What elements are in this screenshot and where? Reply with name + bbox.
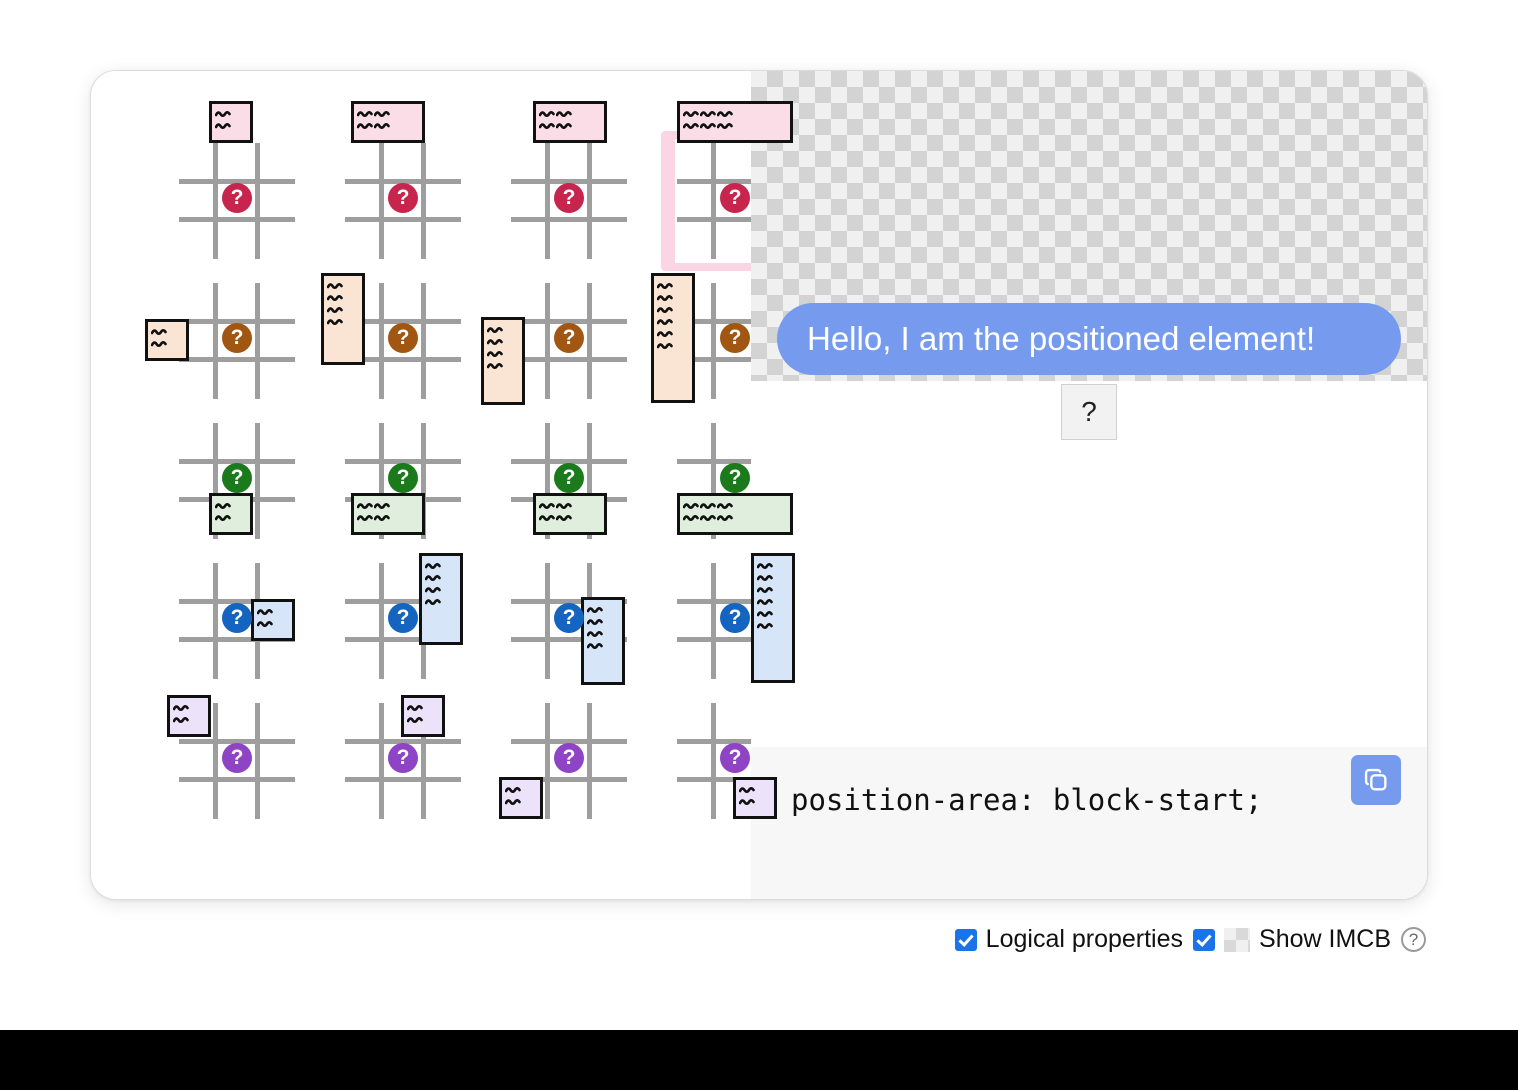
grid-line — [545, 283, 550, 399]
anchor-badge: ? — [388, 603, 418, 633]
squiggle-mark — [151, 339, 168, 349]
help-icon[interactable]: ? — [1401, 927, 1426, 952]
tictac-grid: ? — [343, 279, 463, 403]
squiggle-mark — [407, 715, 424, 725]
position-area-option[interactable]: ? — [495, 691, 643, 831]
anchor-badge: ? — [388, 323, 418, 353]
squiggle-mark — [683, 109, 700, 119]
squiggle-mark — [374, 513, 391, 523]
tictac-grid: ? — [177, 279, 297, 403]
grid-line — [179, 357, 295, 362]
show-imcb-control[interactable]: Show IMCB — [1193, 925, 1391, 954]
position-area-card: ???????????????????? Hello, I am the pos… — [90, 70, 1428, 900]
tictac-grid: ? — [177, 559, 297, 683]
grid-line — [379, 563, 384, 679]
squiggle-mark — [657, 293, 674, 303]
anchor-chip-label: ? — [1081, 396, 1097, 428]
positioned-box — [209, 493, 253, 535]
positioned-box — [651, 273, 695, 403]
anchor-badge: ? — [720, 183, 750, 213]
position-area-option[interactable]: ? — [495, 271, 643, 411]
squiggle-mark — [257, 619, 274, 629]
squiggle-mark — [505, 785, 522, 795]
position-area-option[interactable]: ? — [495, 411, 643, 551]
positioned-box — [209, 101, 253, 143]
squiggle-mark — [173, 715, 190, 725]
positioned-box — [677, 493, 793, 535]
anchor-badge: ? — [222, 463, 252, 493]
grid-line — [511, 357, 627, 362]
grid-line — [545, 703, 550, 819]
positioned-box — [581, 597, 625, 685]
grid-line — [587, 143, 592, 259]
tictac-grid: ? — [509, 419, 629, 543]
squiggle-mark — [657, 341, 674, 351]
grid-line — [711, 703, 716, 819]
tictac-grid: ? — [509, 279, 629, 403]
squiggle-mark — [215, 513, 232, 523]
tictac-grid: ? — [343, 139, 463, 263]
squiggle-mark — [556, 109, 573, 119]
tictac-grid: ? — [509, 139, 629, 263]
anchor-badge: ? — [222, 183, 252, 213]
positioned-box — [351, 493, 425, 535]
anchor-badge: ? — [554, 603, 584, 633]
anchor-badge: ? — [222, 743, 252, 773]
squiggle-mark — [700, 501, 717, 511]
grid-line — [711, 563, 716, 679]
grid-line — [213, 143, 218, 259]
squiggle-mark — [683, 121, 700, 131]
anchor-badge: ? — [720, 743, 750, 773]
grid-line — [379, 283, 384, 399]
squiggle-mark — [215, 121, 232, 131]
anchor-badge: ? — [554, 743, 584, 773]
squiggle-mark — [739, 785, 756, 795]
squiggle-mark — [657, 317, 674, 327]
squiggle-mark — [257, 607, 274, 617]
bubble-text: Hello, I am the positioned element! — [807, 320, 1315, 358]
squiggle-mark — [327, 281, 344, 291]
positioned-box — [533, 493, 607, 535]
tictac-grid: ? — [675, 559, 795, 683]
position-area-option[interactable]: ? — [495, 131, 643, 271]
squiggle-mark — [587, 617, 604, 627]
grid-line — [213, 563, 218, 679]
squiggle-mark — [556, 513, 573, 523]
position-area-option[interactable]: ? — [661, 551, 809, 691]
squiggle-mark — [683, 501, 700, 511]
position-area-option[interactable]: ? — [163, 551, 311, 691]
app-root: ???????????????????? Hello, I am the pos… — [0, 0, 1518, 1090]
position-area-option[interactable]: ? — [329, 271, 477, 411]
position-area-option[interactable]: ? — [163, 691, 311, 831]
anchor-badge: ? — [388, 183, 418, 213]
positioned-box — [533, 101, 607, 143]
squiggle-mark — [657, 305, 674, 315]
squiggle-mark — [173, 703, 190, 713]
squiggle-mark — [487, 349, 504, 359]
positioned-box — [321, 273, 365, 365]
anchor-badge: ? — [554, 463, 584, 493]
grid-line — [587, 703, 592, 819]
imcb-swatch-icon — [1224, 928, 1250, 952]
squiggle-mark — [700, 109, 717, 119]
squiggle-mark — [425, 597, 442, 607]
grid-line — [255, 143, 260, 259]
squiggle-mark — [757, 585, 774, 595]
position-area-option[interactable]: ? — [329, 131, 477, 271]
tictac-grid: ? — [343, 699, 463, 823]
help-icon-label: ? — [1409, 930, 1418, 950]
positioned-box — [145, 319, 189, 361]
preview-pane: Hello, I am the positioned element! ? po… — [751, 71, 1427, 899]
show-imcb-label: Show IMCB — [1259, 925, 1391, 954]
grid-line — [711, 143, 716, 259]
grid-line — [213, 703, 218, 819]
squiggle-mark — [587, 629, 604, 639]
squiggle-mark — [539, 109, 556, 119]
tictac-grid: ? — [343, 419, 463, 543]
copy-button[interactable] — [1351, 755, 1401, 805]
squiggle-mark — [757, 597, 774, 607]
grid-line — [421, 143, 426, 259]
anchor-badge: ? — [554, 323, 584, 353]
anchor-element-chip: ? — [1061, 384, 1117, 440]
squiggle-mark — [357, 109, 374, 119]
squiggle-mark — [757, 609, 774, 619]
squiggle-mark — [739, 797, 756, 807]
footer-controls: Logical properties Show IMCB ? — [0, 925, 1426, 954]
squiggle-mark — [757, 561, 774, 571]
squiggle-mark — [556, 121, 573, 131]
squiggle-mark — [683, 513, 700, 523]
grid-line — [255, 703, 260, 819]
positioned-box — [351, 101, 425, 143]
tictac-grid: ? — [343, 559, 463, 683]
anchor-badge: ? — [222, 603, 252, 633]
squiggle-mark — [757, 573, 774, 583]
squiggle-mark — [539, 501, 556, 511]
grid-line — [421, 283, 426, 399]
squiggle-mark — [717, 501, 734, 511]
squiggle-mark — [505, 797, 522, 807]
squiggle-mark — [357, 513, 374, 523]
squiggle-mark — [374, 109, 391, 119]
anchor-badge: ? — [720, 323, 750, 353]
options-pane: ???????????????????? — [91, 71, 751, 899]
squiggle-mark — [717, 109, 734, 119]
squiggle-mark — [556, 501, 573, 511]
squiggle-mark — [374, 501, 391, 511]
positioned-box — [401, 695, 445, 737]
positioned-box — [251, 599, 295, 641]
grid-line — [213, 283, 218, 399]
squiggle-mark — [151, 327, 168, 337]
anchor-badge: ? — [720, 603, 750, 633]
squiggle-mark — [425, 561, 442, 571]
squiggle-mark — [587, 605, 604, 615]
positioned-box — [481, 317, 525, 405]
position-area-option[interactable]: ? — [495, 551, 643, 691]
grid-line — [711, 283, 716, 399]
positioned-element-bubble: Hello, I am the positioned element! — [777, 303, 1401, 375]
anchor-badge: ? — [388, 743, 418, 773]
grid-line — [345, 217, 461, 222]
grid-line — [379, 703, 384, 819]
code-panel: position-area: block-start; — [751, 747, 1427, 899]
anchor-badge: ? — [388, 463, 418, 493]
grid-line — [345, 777, 461, 782]
grid-line — [179, 777, 295, 782]
position-area-option[interactable]: ? — [329, 691, 477, 831]
grid-line — [587, 283, 592, 399]
squiggle-mark — [487, 337, 504, 347]
copy-icon — [1362, 766, 1390, 794]
tictac-grid: ? — [177, 699, 297, 823]
position-area-option[interactable]: ? — [163, 271, 311, 411]
squiggle-mark — [215, 501, 232, 511]
anchor-badge: ? — [720, 463, 750, 493]
positioned-box — [733, 777, 777, 819]
tictac-grid: ? — [177, 419, 297, 543]
squiggle-mark — [327, 305, 344, 315]
squiggle-mark — [587, 641, 604, 651]
squiggle-mark — [657, 281, 674, 291]
squiggle-mark — [700, 513, 717, 523]
positioned-box — [167, 695, 211, 737]
grid-line — [379, 143, 384, 259]
squiggle-mark — [425, 585, 442, 595]
logical-properties-label: Logical properties — [986, 925, 1183, 954]
squiggle-mark — [327, 293, 344, 303]
squiggle-mark — [717, 513, 734, 523]
tictac-grid: ? — [177, 139, 297, 263]
squiggle-mark — [357, 121, 374, 131]
anchor-badge: ? — [554, 183, 584, 213]
squiggle-mark — [700, 121, 717, 131]
squiggle-mark — [657, 329, 674, 339]
squiggle-mark — [539, 513, 556, 523]
grid-line — [255, 423, 260, 539]
positioned-box — [677, 101, 793, 143]
position-area-options-grid: ???????????????????? — [163, 131, 809, 831]
squiggle-mark — [425, 573, 442, 583]
logical-properties-checkbox[interactable] — [955, 929, 977, 951]
squiggle-mark — [757, 621, 774, 631]
squiggle-mark — [327, 317, 344, 327]
positioned-box — [499, 777, 543, 819]
logical-properties-control[interactable]: Logical properties — [955, 925, 1183, 954]
position-area-option[interactable]: ? — [163, 411, 311, 551]
css-declaration: position-area: block-start; — [791, 783, 1262, 817]
show-imcb-checkbox[interactable] — [1193, 929, 1215, 951]
grid-line — [545, 563, 550, 679]
squiggle-mark — [374, 121, 391, 131]
bottom-bar — [0, 1030, 1518, 1090]
squiggle-mark — [539, 121, 556, 131]
anchor-badge: ? — [222, 323, 252, 353]
squiggle-mark — [487, 325, 504, 335]
position-area-option[interactable]: ? — [163, 131, 311, 271]
grid-line — [545, 143, 550, 259]
grid-line — [511, 217, 627, 222]
squiggle-mark — [357, 501, 374, 511]
squiggle-mark — [717, 121, 734, 131]
positioned-box — [419, 553, 463, 645]
grid-line — [179, 217, 295, 222]
squiggle-mark — [215, 109, 232, 119]
squiggle-mark — [487, 361, 504, 371]
tictac-grid: ? — [509, 699, 629, 823]
squiggle-mark — [407, 703, 424, 713]
position-area-option[interactable]: ? — [329, 411, 477, 551]
grid-line — [255, 283, 260, 399]
tictac-grid: ? — [509, 559, 629, 683]
position-area-option[interactable]: ? — [329, 551, 477, 691]
positioned-box — [751, 553, 795, 683]
